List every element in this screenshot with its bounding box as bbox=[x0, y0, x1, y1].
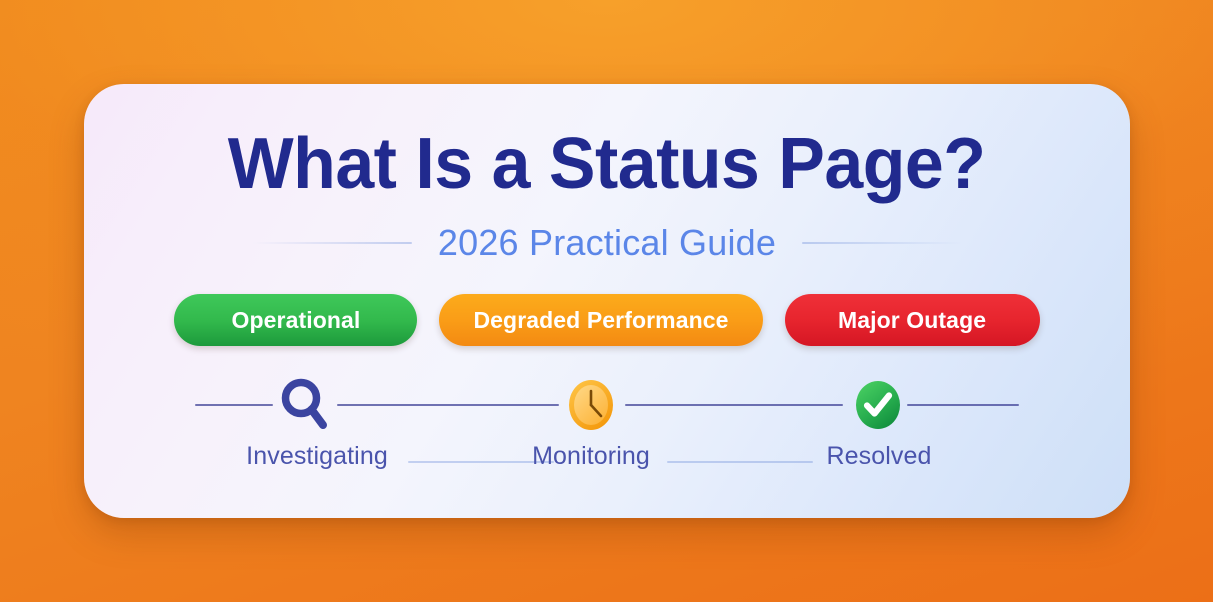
clock-icon bbox=[566, 378, 616, 432]
timeline-connector-1 bbox=[337, 404, 559, 406]
subtitle-rule-left bbox=[252, 242, 412, 244]
status-pill-operational[interactable]: Operational bbox=[174, 294, 417, 346]
status-pill-row: Operational Degraded Performance Major O… bbox=[174, 294, 1039, 346]
card-content: What Is a Status Page? 2026 Practical Gu… bbox=[84, 84, 1130, 518]
timeline-connector-2 bbox=[625, 404, 843, 406]
status-pill-degraded-performance[interactable]: Degraded Performance bbox=[439, 294, 762, 346]
timeline-icon-row bbox=[195, 374, 1019, 436]
subtitle-row: 2026 Practical Guide bbox=[120, 222, 1094, 264]
timeline-label-row: Investigating Monitoring Resolved bbox=[195, 442, 1019, 480]
page-subtitle: 2026 Practical Guide bbox=[438, 222, 776, 264]
timeline-connector-end bbox=[907, 404, 1019, 406]
timeline-label-monitoring: Monitoring bbox=[532, 442, 650, 471]
incident-timeline: Investigating Monitoring Resolved bbox=[195, 374, 1019, 480]
subtitle-rule-right bbox=[802, 242, 962, 244]
magnifier-icon bbox=[277, 376, 333, 434]
timeline-connector-start bbox=[195, 404, 273, 406]
timeline-label-resolved: Resolved bbox=[826, 442, 931, 471]
timeline-label-connector-2 bbox=[667, 461, 813, 463]
check-circle-icon bbox=[853, 379, 903, 431]
timeline-node-resolved[interactable] bbox=[853, 379, 903, 431]
timeline-node-investigating[interactable] bbox=[277, 376, 333, 434]
status-page-card: What Is a Status Page? 2026 Practical Gu… bbox=[84, 84, 1130, 518]
timeline-label-investigating: Investigating bbox=[246, 442, 388, 471]
timeline-node-monitoring[interactable] bbox=[566, 378, 616, 432]
status-pill-major-outage[interactable]: Major Outage bbox=[785, 294, 1040, 346]
page-title: What Is a Status Page? bbox=[228, 128, 986, 200]
